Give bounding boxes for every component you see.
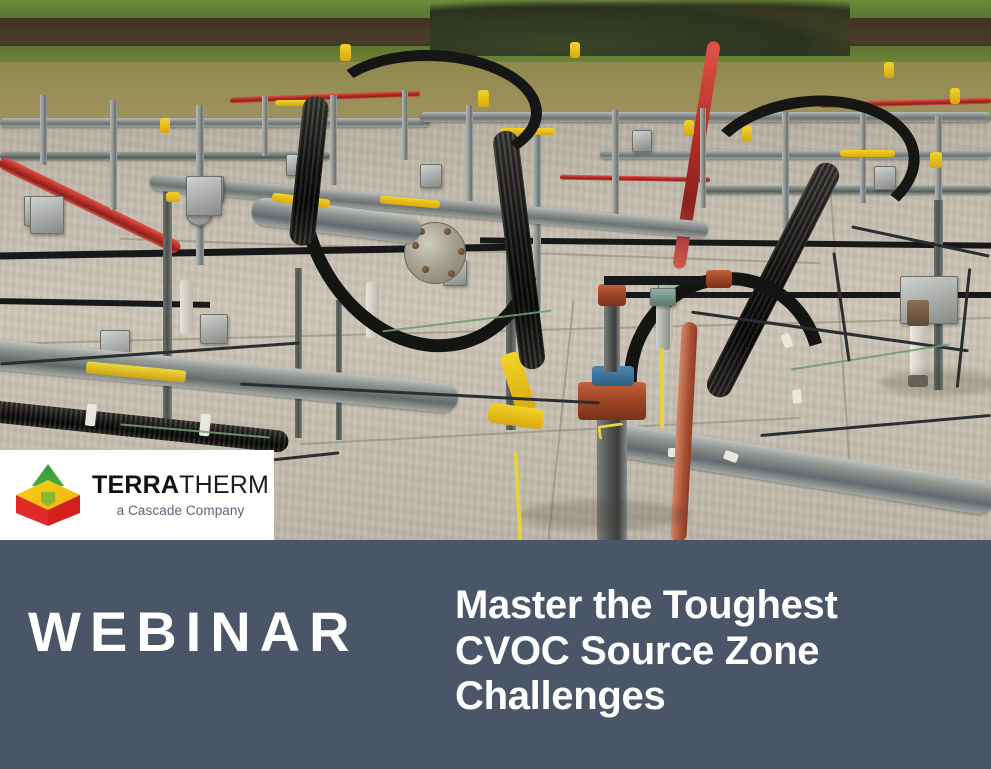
well-riser: [180, 280, 193, 334]
well-riser: [907, 300, 929, 326]
logo-wordmark: TERRATHERM a Cascade Company: [92, 473, 269, 518]
process-pipe: [0, 152, 330, 160]
valve-handle: [340, 44, 351, 61]
wellhead-stem: [604, 300, 620, 372]
instrument-probe: [656, 300, 670, 350]
background-treeline: [430, 0, 850, 56]
webinar-promo-poster: TERRATHERM a Cascade Company WEBINAR Mas…: [0, 0, 991, 769]
control-panel-box: [30, 196, 64, 234]
valve-handle: [930, 152, 942, 168]
brand-name: TERRATHERM: [92, 473, 269, 498]
ground-shadow: [520, 500, 690, 530]
valve-handle: [570, 42, 580, 58]
rack-leg: [262, 96, 268, 156]
instrument-head: [650, 288, 676, 306]
rack-leg: [163, 188, 172, 438]
eyebrow-webinar-label: WEBINAR: [28, 604, 359, 660]
junction-box: [632, 130, 652, 152]
webinar-title-line: Challenges: [455, 674, 955, 720]
valve-handle: [166, 192, 180, 202]
logo-tagline: a Cascade Company: [92, 503, 269, 518]
rack-leg: [110, 100, 117, 210]
brand-name-bold: TERRA: [92, 471, 179, 499]
valve-handle: [950, 88, 960, 104]
control-panel-box: [186, 176, 222, 216]
junction-box: [200, 314, 228, 344]
valve-handle: [884, 62, 894, 78]
terratherm-cube-arrow-logo: [12, 462, 84, 528]
rack-leg: [40, 95, 47, 165]
webinar-title-line: Master the Toughest: [455, 583, 955, 629]
rack-leg: [612, 110, 619, 230]
brand-name-light: THERM: [179, 471, 269, 499]
valve-handle: [160, 118, 170, 133]
yellow-tubing: [660, 348, 664, 428]
rack-leg: [295, 268, 302, 438]
ground-shadow: [880, 370, 991, 396]
webinar-title-line: CVOC Source Zone: [455, 629, 955, 675]
wellhead-tee: [706, 270, 732, 288]
valve-handle: [684, 120, 694, 136]
rack-leg: [336, 300, 342, 440]
webinar-title: Master the Toughest CVOC Source Zone Cha…: [455, 583, 955, 720]
terratherm-logo-card: TERRATHERM a Cascade Company: [0, 450, 274, 540]
hose-strap: [792, 389, 802, 404]
wellhead-top-fitting: [598, 284, 626, 306]
